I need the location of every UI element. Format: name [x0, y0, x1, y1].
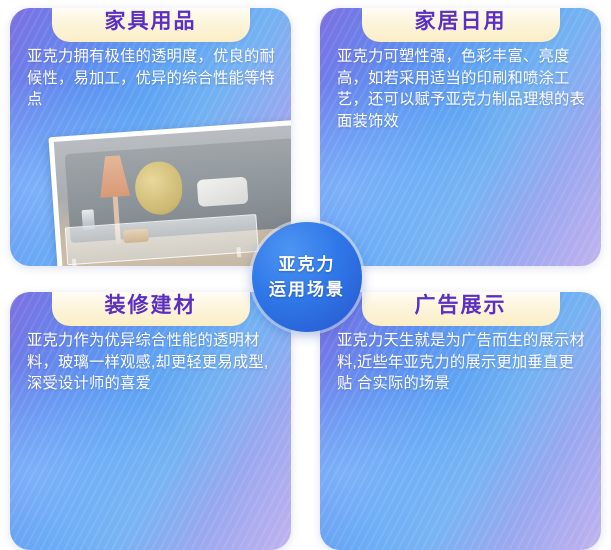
card-home-daily[interactable]: 家居日用 亚克力可塑性强，色彩丰富、亮度高，如若采用适当的印刷和喷涂工艺，还可以… — [320, 8, 601, 266]
card-body: 亚克力天生就是为广告而生的展示材料,近些年亚克力的展示更加垂直更贴 合实际的场景 — [337, 330, 587, 395]
card-title: 家居日用 — [386, 9, 536, 35]
card-description: 亚克力拥有极佳的透明度，优良的耐候性，易加工，优异的综合性能等特点 — [27, 46, 277, 111]
center-badge-line1: 亚克力 — [279, 252, 336, 277]
center-badge-line2: 运用场景 — [269, 277, 345, 302]
card-body: 亚克力作为优异综合性能的透明材料，玻璃一样观感,却更轻更易成型,深受设计师的喜爱 — [27, 330, 277, 395]
card-description: 亚克力天生就是为广告而生的展示材料,近些年亚克力的展示更加垂直更贴 合实际的场景 — [337, 330, 587, 395]
center-badge: 亚克力 运用场景 — [252, 222, 362, 332]
pillow-shape — [197, 177, 249, 208]
photo-living-room — [54, 124, 291, 266]
card-body: 亚克力可塑性强，色彩丰富、亮度高，如若采用适当的印刷和喷涂工艺，还可以赋予亚克力… — [337, 46, 587, 132]
card-photo — [48, 119, 291, 266]
card-decoration-materials[interactable]: 装修建材 亚克力作为优异综合性能的透明材料，玻璃一样观感,却更轻更易成型,深受设… — [10, 292, 291, 550]
card-title-pill: 装修建材 — [52, 292, 250, 326]
card-advertising-display[interactable]: 广告展示 亚克力天生就是为广告而生的展示材料,近些年亚克力的展示更加垂直更贴 合… — [320, 292, 601, 550]
card-description: 亚克力可塑性强，色彩丰富、亮度高，如若采用适当的印刷和喷涂工艺，还可以赋予亚克力… — [337, 46, 587, 132]
card-description: 亚克力作为优异综合性能的透明材料，玻璃一样观感,却更轻更易成型,深受设计师的喜爱 — [27, 330, 277, 395]
vase-shape — [81, 210, 95, 230]
card-title: 广告展示 — [386, 293, 536, 319]
infographic-board: 家具用品 亚克力拥有极佳的透明度，优良的耐候性，易加工，优异的综合性能等特点 — [0, 0, 611, 542]
card-title-pill: 家具用品 — [52, 8, 250, 42]
card-title-pill: 广告展示 — [362, 292, 560, 326]
card-furniture[interactable]: 家具用品 亚克力拥有极佳的透明度，优良的耐候性，易加工，优异的综合性能等特点 — [10, 8, 291, 266]
trinket-shape — [123, 228, 149, 243]
card-title: 装修建材 — [76, 293, 226, 319]
card-body: 亚克力拥有极佳的透明度，优良的耐候性，易加工，优异的综合性能等特点 — [27, 46, 277, 111]
card-title: 家具用品 — [76, 9, 226, 35]
card-title-pill: 家居日用 — [362, 8, 560, 42]
